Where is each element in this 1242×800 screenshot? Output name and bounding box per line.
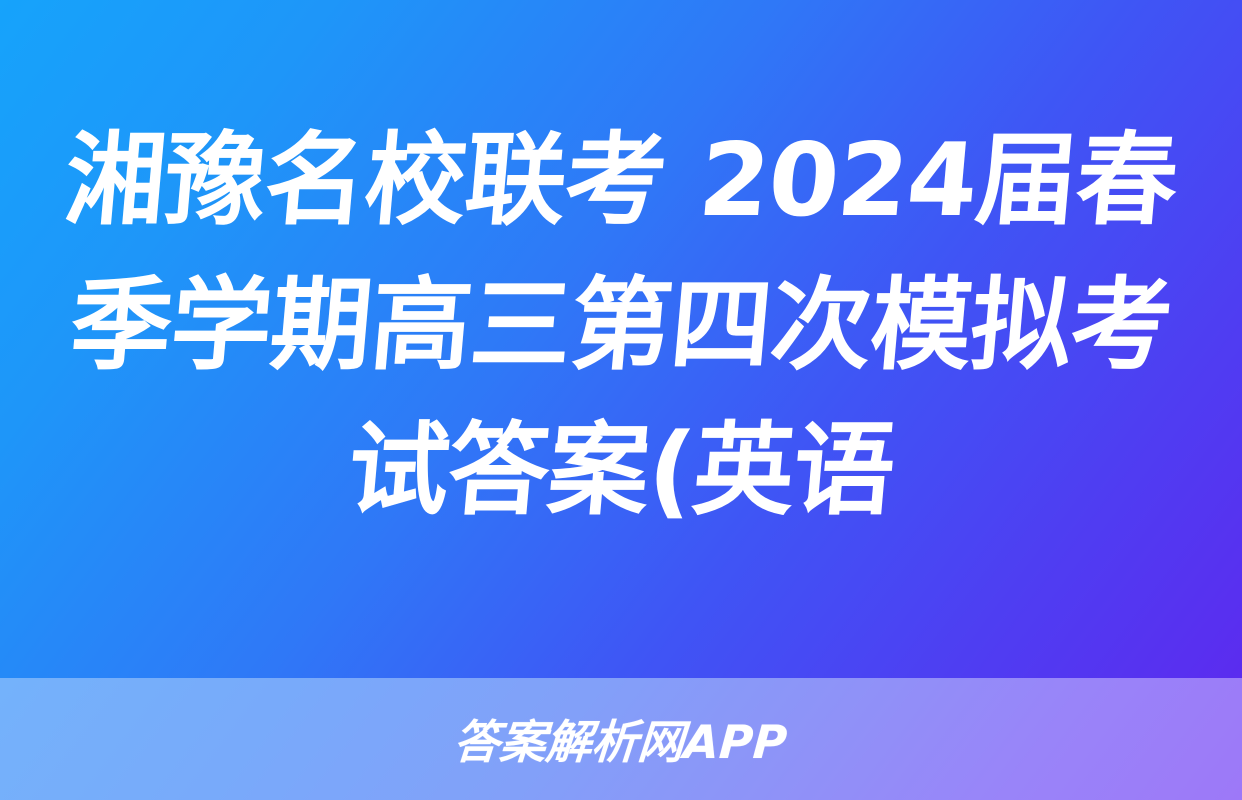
headline-line-1: 湘豫名校联考 2024届春	[54, 108, 1189, 253]
watermark-banner: 答案解析网APP	[0, 678, 1242, 800]
headline-line-2: 季学期高三第四次模拟考	[54, 253, 1189, 398]
app-watermark-label: 答案解析网APP	[452, 706, 790, 772]
exam-answer-card: 湘豫名校联考 2024届春 季学期高三第四次模拟考 试答案(英语 答案解析网AP…	[0, 0, 1242, 800]
headline-line-3: 试答案(英语	[54, 398, 1189, 543]
headline-block: 湘豫名校联考 2024届春 季学期高三第四次模拟考 试答案(英语	[0, 0, 1242, 678]
